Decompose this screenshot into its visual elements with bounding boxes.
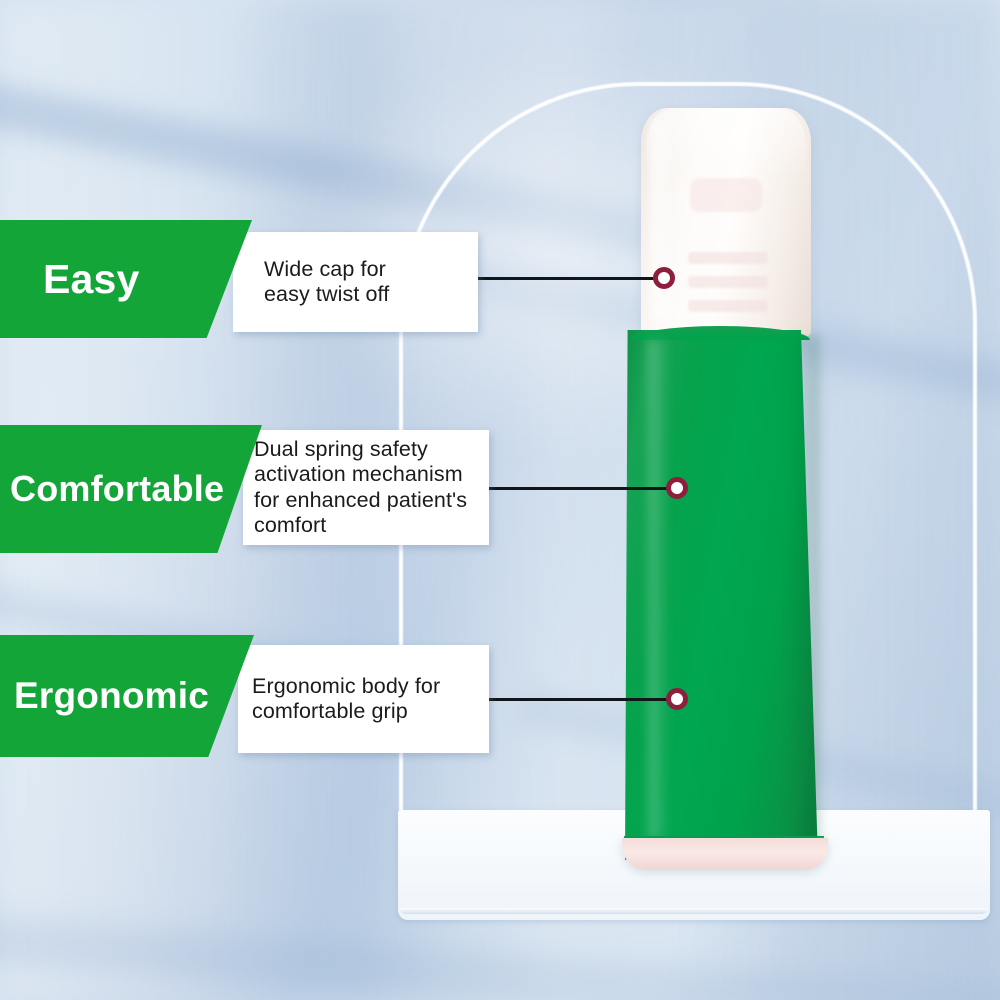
product-base (622, 838, 828, 870)
callout-note-text-1: Wide cap for easy twist off (264, 257, 389, 308)
connector-line-3 (489, 698, 669, 701)
callout-note-1: Wide cap for easy twist off (233, 232, 478, 332)
callout-note-2: Dual spring safety activation mechanism … (243, 430, 489, 545)
callout-note-text-2: Dual spring safety activation mechanism … (254, 437, 467, 539)
callout-tag-label-2: Comfortable (10, 468, 224, 510)
product-cap-emboss (688, 276, 768, 288)
callout-note-text-3: Ergonomic body for comfortable grip (252, 674, 440, 725)
callout-note-3: Ergonomic body for comfortable grip (238, 645, 489, 753)
connector-line-1 (478, 277, 664, 280)
product-cap-sheen (652, 120, 678, 320)
product-body-shadow (786, 336, 820, 846)
callout-marker-2 (666, 477, 688, 499)
callout-tag-label-3: Ergonomic (14, 675, 209, 717)
infographic-canvas: Wide cap for easy twist off Easy Dual sp… (0, 0, 1000, 1000)
product-body-sheen (648, 340, 670, 840)
product-cap-emboss (688, 300, 768, 312)
product-cap-emboss (688, 252, 768, 264)
callout-tag-comfortable: Comfortable (0, 425, 262, 553)
callout-marker-3 (666, 688, 688, 710)
callout-tag-label-1: Easy (43, 256, 140, 303)
callout-marker-1 (653, 267, 675, 289)
connector-line-2 (489, 487, 669, 490)
product-cap-emboss (690, 178, 762, 212)
